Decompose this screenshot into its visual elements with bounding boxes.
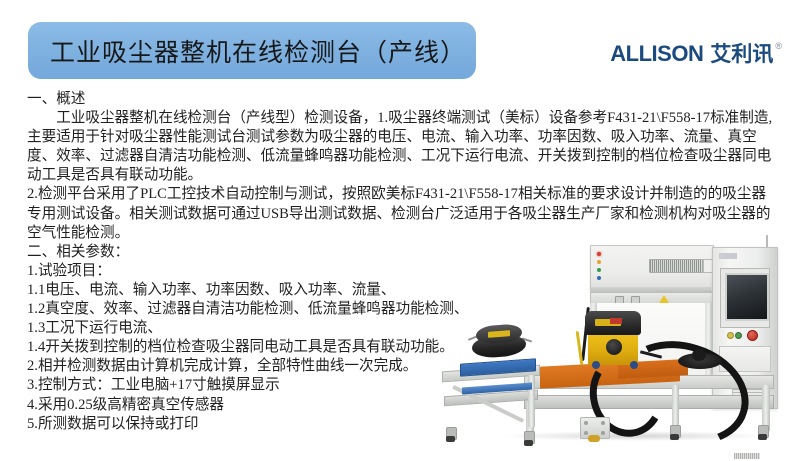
list-item: 1.3工况下运行电流、 xyxy=(27,319,779,338)
list-item: 5.所测数据可以保持或打印 xyxy=(27,415,779,434)
page-title: 工业吸尘器整机在线检测台（产线） xyxy=(50,33,466,69)
list-item: 1.4开关拨到控制的档位检查吸尘器同电动工具是否具有联动功能。 xyxy=(27,338,779,357)
registered-trademark-icon: ® xyxy=(775,41,782,51)
logo-text-cn: 艾利讯 xyxy=(710,38,773,68)
caster-wheel xyxy=(670,434,679,440)
section-2-heading: 二、相关参数： xyxy=(27,243,779,262)
paragraph-1: 工业吸尘器整机在线检测台（产线型）检测设备，1.吸尘器终端测试（美标）设备参考F… xyxy=(27,109,779,185)
section-1-heading: 一、概述 xyxy=(27,90,779,109)
company-logo: ALLISON 艾利讯 ® xyxy=(610,38,782,68)
list-item: 1.1电压、电流、输入功率、功率因数、吸入功率、流量、 xyxy=(27,281,779,300)
list-item: 1.试验项目： xyxy=(27,262,779,281)
slide-page: 工业吸尘器整机在线检测台（产线） ALLISON 艾利讯 ® 一、概述 工业吸尘… xyxy=(0,0,800,450)
logo-text-en: ALLISON xyxy=(610,41,703,67)
body-copy: 一、概述 工业吸尘器整机在线检测台（产线型）检测设备，1.吸尘器终端测试（美标）… xyxy=(27,90,779,434)
caster-wheel xyxy=(446,436,455,442)
caster-wheel xyxy=(758,434,767,440)
page-title-bar: 工业吸尘器整机在线检测台（产线） xyxy=(28,22,476,79)
list-item: 3.控制方式：工业电脑+17寸触摸屏显示 xyxy=(27,376,779,395)
list-item: 4.采用0.25级高精密真空传感器 xyxy=(27,396,779,415)
list-item: 1.2真空度、效率、过滤器自清洁功能检测、低流量蜂鸣器功能检测、 xyxy=(27,300,779,319)
caster-wheel xyxy=(524,440,533,446)
leveling-wheel xyxy=(588,435,600,442)
paragraph-2: 2.检测平台采用了PLC工控技术自动控制与测试，按照欧美标F431-21\F55… xyxy=(27,185,779,242)
cabinet-vent-grille xyxy=(734,453,760,459)
list-item: 2.相并检测数据由计算机完成计算，全部特性曲线一次完成。 xyxy=(27,357,779,376)
